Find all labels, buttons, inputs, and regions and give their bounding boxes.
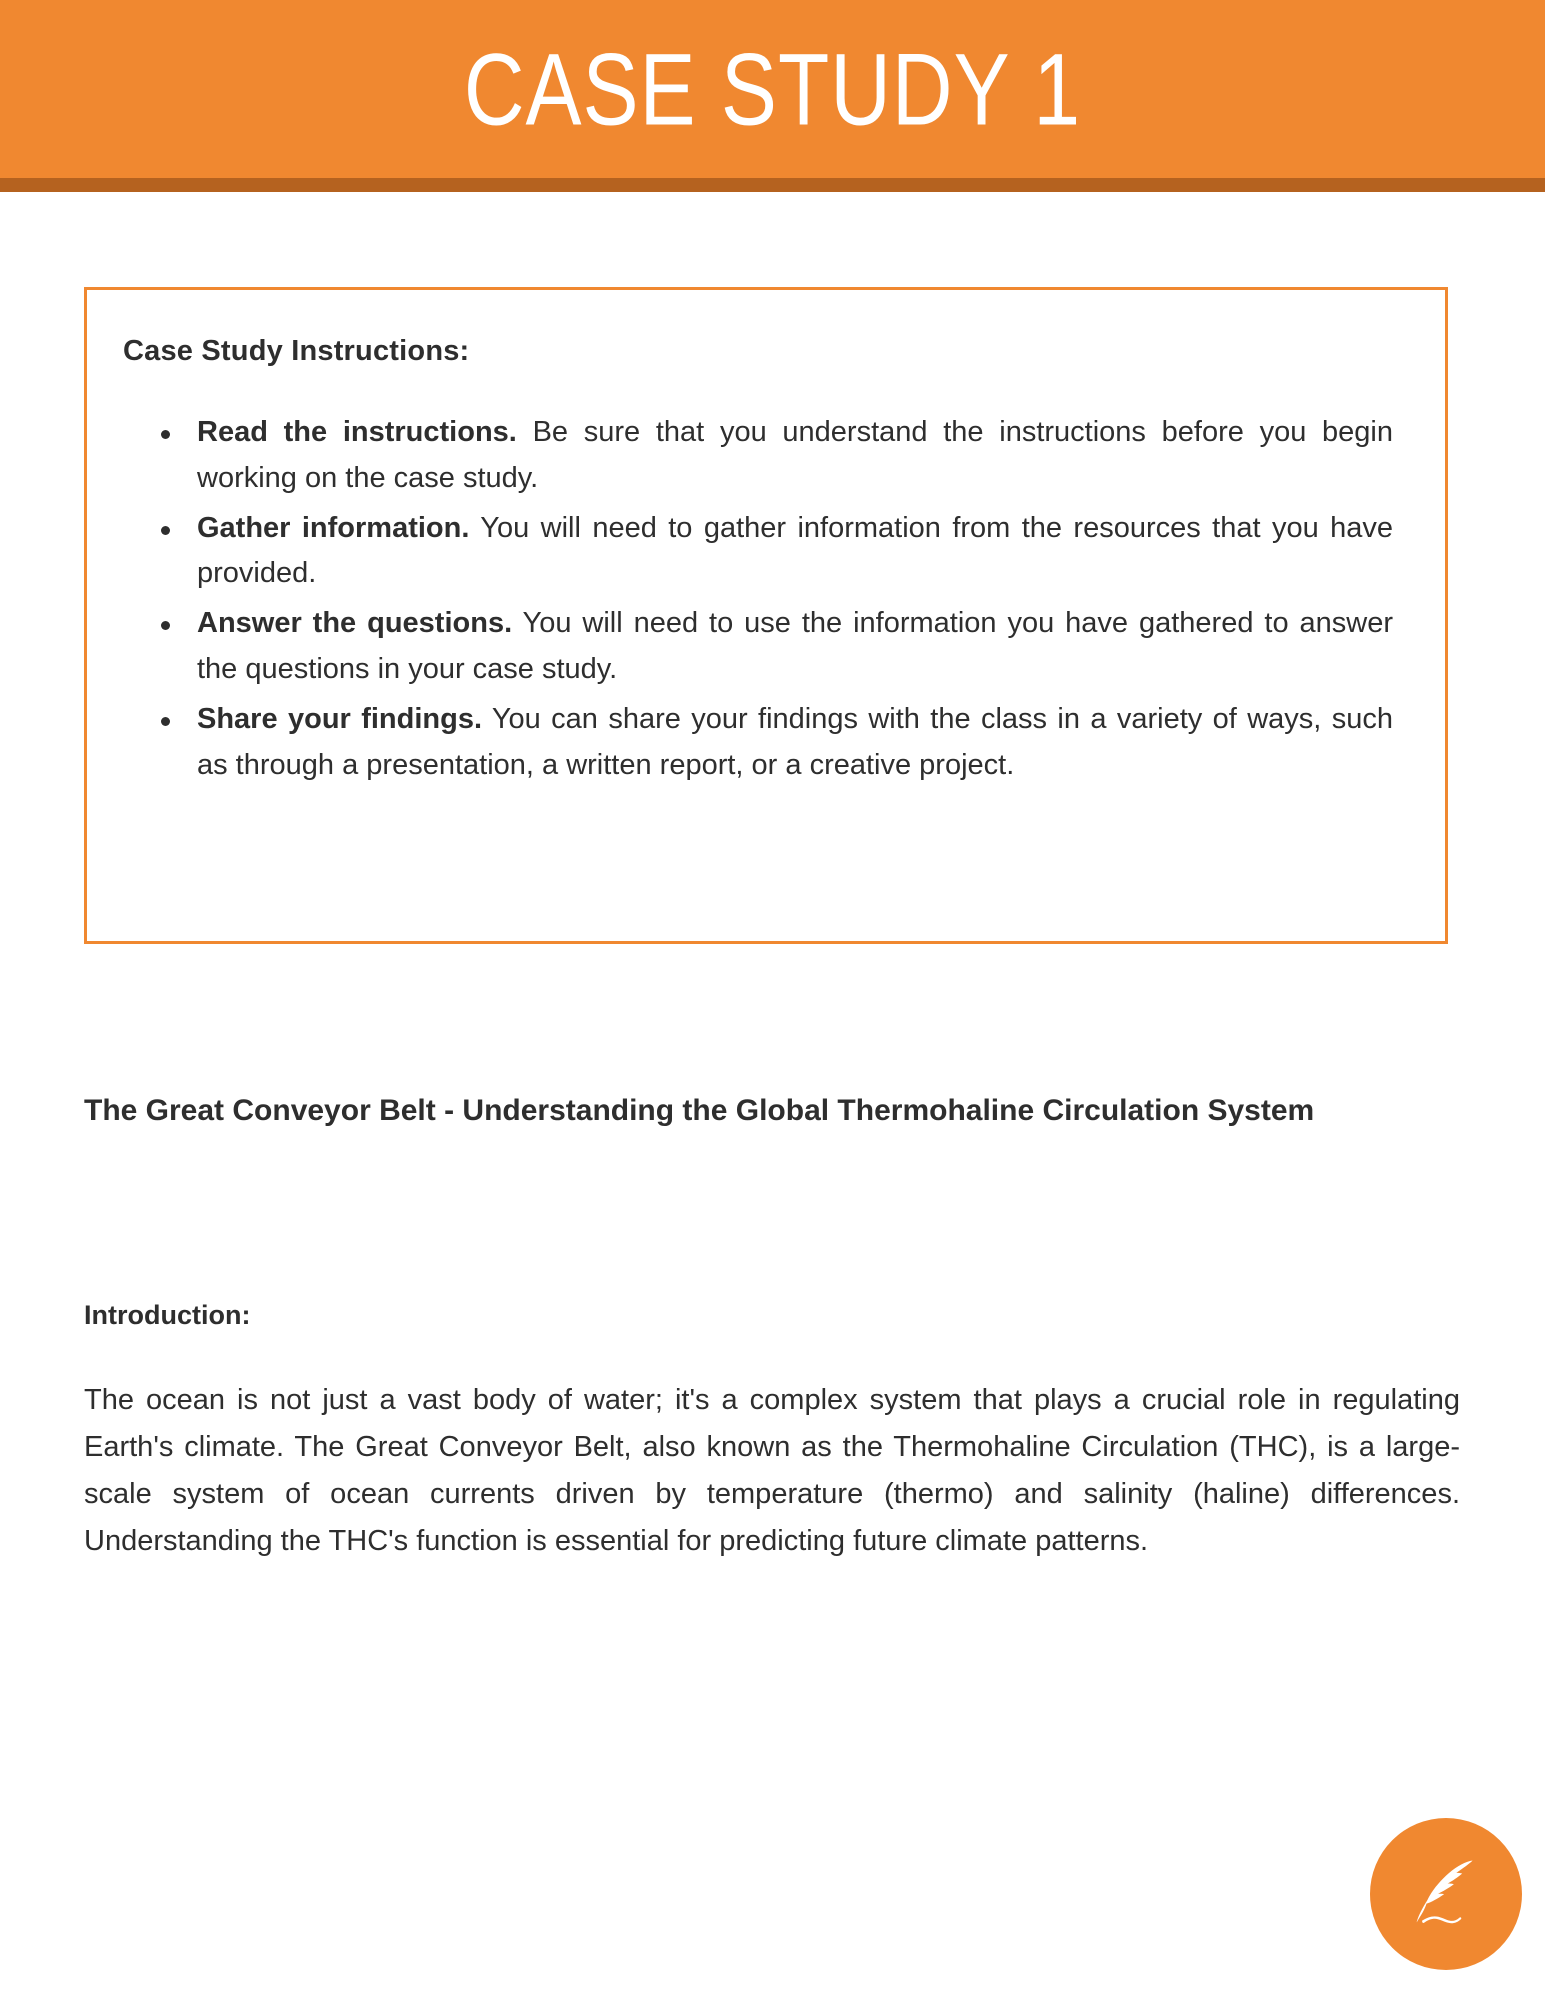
footer-logo — [1370, 1818, 1522, 1970]
instructions-heading: Case Study Instructions: — [123, 335, 1445, 368]
section-title: The Great Conveyor Belt - Understanding … — [84, 1090, 1460, 1132]
introduction-heading: Introduction: — [84, 1300, 250, 1331]
instructions-list: Read the instructions. Be sure that you … — [139, 410, 1393, 789]
list-item: Read the instructions. Be sure that you … — [197, 410, 1393, 502]
list-item-lead: Read the instructions. — [197, 416, 517, 448]
introduction-paragraph: The ocean is not just a vast body of wat… — [84, 1377, 1460, 1565]
list-item-lead: Share your findings. — [197, 703, 482, 735]
header-banner: CASE STUDY 1 — [0, 0, 1545, 178]
instructions-panel: Case Study Instructions: Read the instru… — [84, 287, 1448, 944]
page-title: CASE STUDY 1 — [464, 38, 1081, 140]
list-item-lead: Answer the questions. — [197, 607, 512, 639]
list-item: Share your findings. You can share your … — [197, 697, 1393, 789]
header-accent-bar — [0, 178, 1545, 192]
list-item-lead: Gather information. — [197, 512, 469, 544]
quill-feather-icon — [1400, 1848, 1492, 1940]
list-item: Answer the questions. You will need to u… — [197, 601, 1393, 693]
list-item: Gather information. You will need to gat… — [197, 506, 1393, 598]
